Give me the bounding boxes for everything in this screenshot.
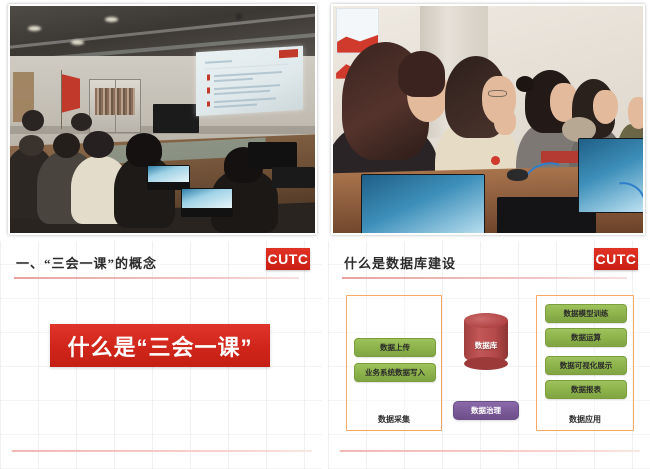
eyeglasses: [488, 90, 507, 97]
red-flag: [62, 74, 80, 113]
training-session-projector-photo: [8, 4, 317, 235]
wall-monitor: [153, 104, 199, 134]
data-application-group-label: 数据应用: [537, 414, 633, 425]
data-collection-group-label: 数据采集: [347, 414, 441, 425]
photo-right-scene: [333, 6, 643, 233]
photo-left-scene: [10, 6, 315, 233]
diagram-box-data-upload: 数据上传: [354, 338, 436, 357]
title-divider: [342, 277, 627, 279]
attendee-hand: [494, 108, 516, 135]
attendee-face: [628, 97, 646, 129]
attendee-head: [83, 131, 114, 158]
laptop: [181, 188, 233, 218]
cutc-logo: CUTC: [594, 248, 638, 270]
ceiling-sensor: [236, 13, 242, 20]
diagram-box-business-system-write: 业务系统数据写入: [354, 363, 436, 382]
data-application-group: 数据模型训练 数据运算 数据可视化展示 数据报表 数据应用: [536, 295, 634, 431]
diagram-box-data-reports: 数据报表: [545, 380, 627, 399]
bottom-divider: [12, 450, 312, 452]
laptop: [272, 167, 315, 187]
laptop: [147, 165, 190, 190]
cabinet-books: [95, 88, 135, 115]
database-cylinder-label: 数据库: [464, 340, 508, 351]
attendee-head: [22, 110, 43, 130]
database-cylinder: 数据库: [464, 313, 508, 369]
page-title: 一、“三会一课”的概念: [16, 253, 157, 272]
page-title: 什么是数据库建设: [344, 253, 456, 272]
diagram-box-model-training: 数据模型训练: [545, 304, 627, 323]
screenshot-page: 一、“三会一课”的概念 CUTC 什么是“三会一课” 什么是数据库建设 CUTC…: [0, 0, 650, 469]
attendee-head: [19, 135, 43, 155]
diagram-box-data-computation: 数据运算: [545, 328, 627, 347]
slide-sanhuiyike: 一、“三会一课”的概念 CUTC 什么是“三会一课”: [0, 241, 322, 469]
headline-banner-text: 什么是“三会一课”: [67, 330, 252, 362]
attendees-closeup-photo: [331, 4, 645, 235]
attendee-head: [53, 133, 80, 158]
data-collection-group: 数据上传 业务系统数据写入 数据采集: [346, 295, 442, 431]
attendee-head: [71, 113, 92, 131]
laptop: [248, 142, 297, 169]
laptop: [361, 174, 485, 235]
flag-pole: [61, 70, 62, 129]
cylinder-bottom: [464, 357, 508, 370]
diagram-box-data-visualization: 数据可视化展示: [545, 356, 627, 375]
computer-mouse: [507, 169, 529, 180]
title-divider: [14, 277, 299, 279]
attendee-head: [126, 133, 163, 167]
database-architecture-diagram: 数据上传 业务系统数据写入 数据采集 数据库 数据治理 数据模型训练 数据运算 …: [328, 289, 650, 454]
data-governance-box: 数据治理: [453, 401, 519, 420]
attendee-hair-front: [398, 51, 445, 96]
cutc-logo: CUTC: [266, 248, 310, 270]
headline-banner: 什么是“三会一课”: [50, 324, 270, 367]
bottom-divider: [340, 450, 640, 452]
slide-database-construction: 什么是数据库建设 CUTC 数据上传 业务系统数据写入 数据采集 数据库 数据治…: [328, 241, 650, 469]
cylinder-top: [464, 313, 508, 328]
projection-screen: [196, 46, 303, 116]
